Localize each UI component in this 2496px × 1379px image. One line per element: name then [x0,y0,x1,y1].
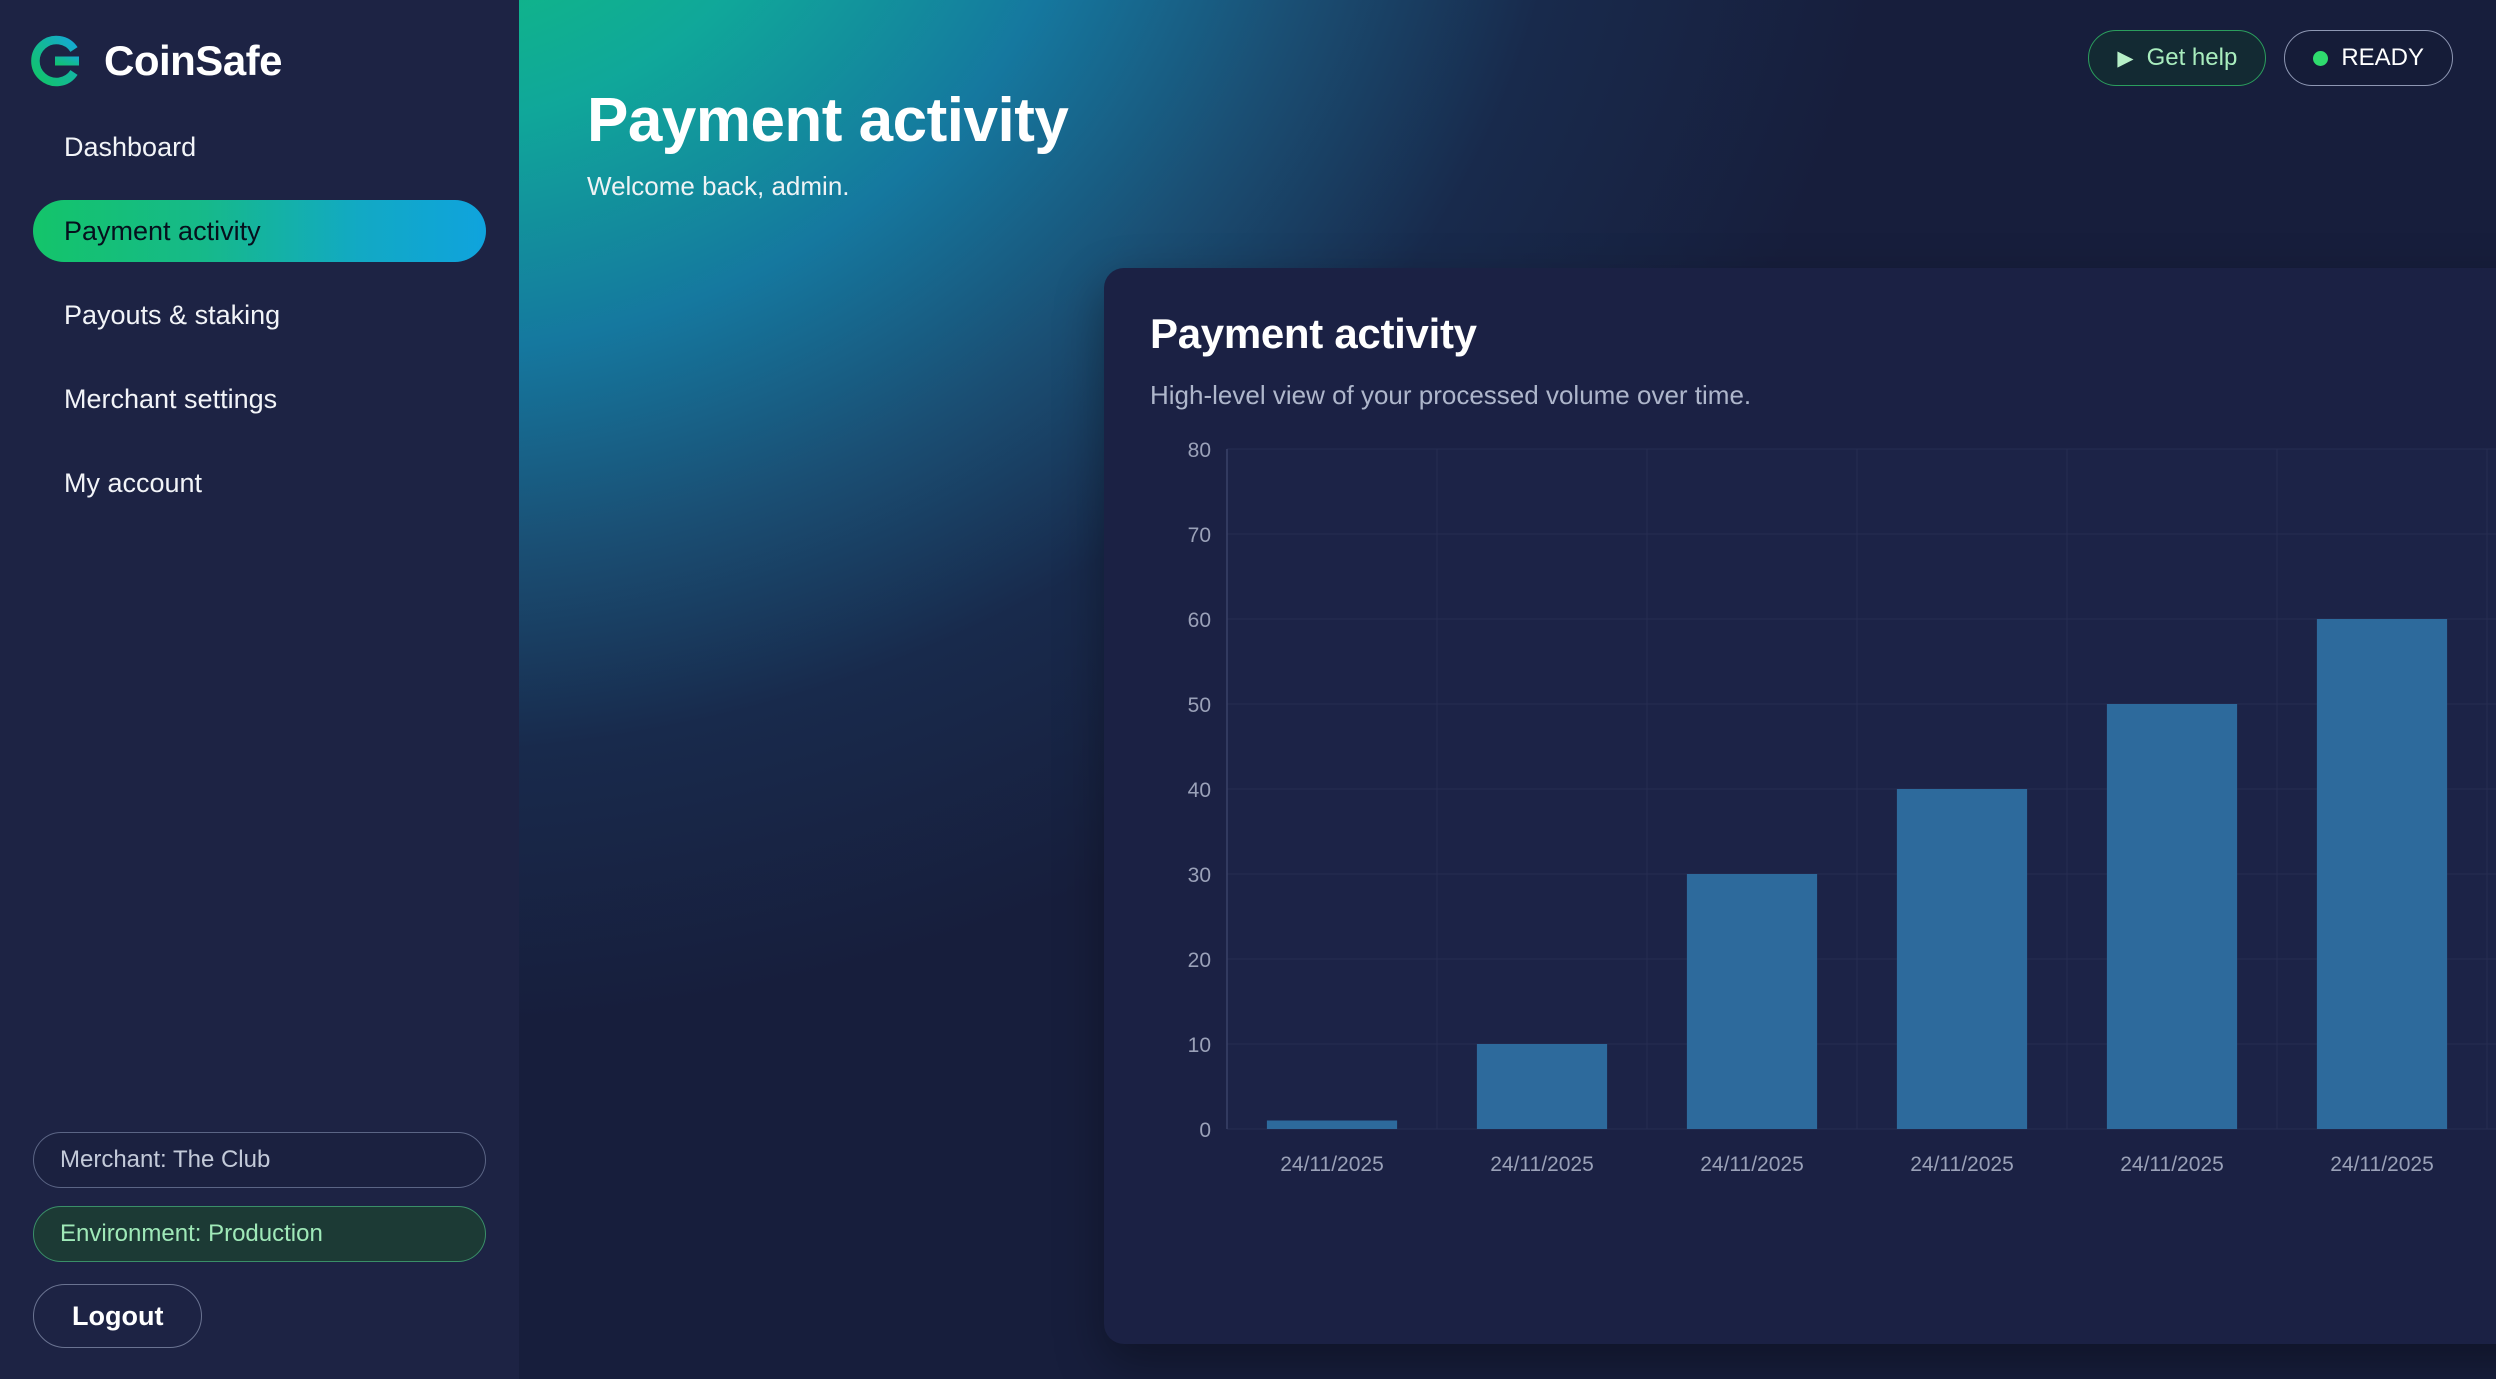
sidebar-nav: Dashboard Payment activity Payouts & sta… [0,116,519,514]
sidebar-item-my-account[interactable]: My account [33,452,486,514]
sidebar-item-merchant-settings[interactable]: Merchant settings [33,368,486,430]
merchant-chip[interactable]: Merchant: The Club [33,1132,486,1188]
environment-chip[interactable]: Environment: Production [33,1206,486,1262]
get-help-label: Get help [2147,44,2238,72]
status-badge[interactable]: READY [2284,30,2453,86]
brand: CoinSafe [0,0,519,96]
status-dot-icon [2313,51,2328,66]
sidebar-item-payouts-staking[interactable]: Payouts & staking [33,284,486,346]
brand-name: CoinSafe [104,40,282,82]
sidebar-item-dashboard[interactable]: Dashboard [33,116,486,178]
y-axis-tick-label: 20 [1188,949,1211,972]
app-root: CoinSafe Dashboard Payment activity Payo… [0,0,2496,1379]
status-label: READY [2341,44,2424,72]
get-help-button[interactable]: ▶ Get help [2088,30,2266,86]
page-title: Payment activity [587,88,2496,153]
x-axis-tick-label: 24/11/2025 [2120,1153,2224,1176]
x-axis-tick-label: 24/11/2025 [1490,1153,1594,1176]
x-axis-tick-label: 24/11/2025 [1280,1153,1384,1176]
payment-activity-card: Payment activity High-level view of your… [1104,268,2496,1344]
y-axis-tick-label: 30 [1188,864,1211,887]
topbar: ▶ Get help READY [2088,30,2453,86]
x-axis-tick-label: 24/11/2025 [2330,1153,2434,1176]
sidebar: CoinSafe Dashboard Payment activity Payo… [0,0,519,1379]
bar[interactable] [2107,704,2237,1129]
y-axis-tick-label: 0 [1199,1119,1211,1142]
y-axis-tick-label: 10 [1188,1034,1211,1057]
y-axis-tick-label: 50 [1188,694,1211,717]
page-subtitle: Welcome back, admin. [587,171,2496,202]
sidebar-item-payment-activity[interactable]: Payment activity [33,200,486,262]
bar[interactable] [1897,789,2027,1129]
bar[interactable] [1267,1121,1397,1130]
bar[interactable] [1687,874,1817,1129]
payment-activity-chart: 0102030405060708024/11/202524/11/202524/… [1150,439,2496,1219]
card-title: Payment activity [1150,310,2496,358]
y-axis-tick-label: 80 [1188,439,1211,462]
bar[interactable] [2317,619,2447,1129]
y-axis-tick-label: 40 [1188,779,1211,802]
y-axis-tick-label: 70 [1188,524,1211,547]
play-icon: ▶ [2117,48,2133,69]
x-axis-tick-label: 24/11/2025 [1910,1153,2014,1176]
logout-button[interactable]: Logout [33,1284,202,1348]
x-axis-tick-label: 24/11/2025 [1700,1153,1804,1176]
card-subtitle: High-level view of your processed volume… [1150,380,2496,411]
bar[interactable] [1477,1044,1607,1129]
coinsafe-logo-icon [28,34,82,88]
sidebar-footer: Merchant: The Club Environment: Producti… [33,1132,486,1348]
y-axis-tick-label: 60 [1188,609,1211,632]
bar-chart: 0102030405060708024/11/202524/11/202524/… [1150,439,2496,1219]
main-content: ▶ Get help READY Payment activity Welcom… [519,0,2496,1379]
